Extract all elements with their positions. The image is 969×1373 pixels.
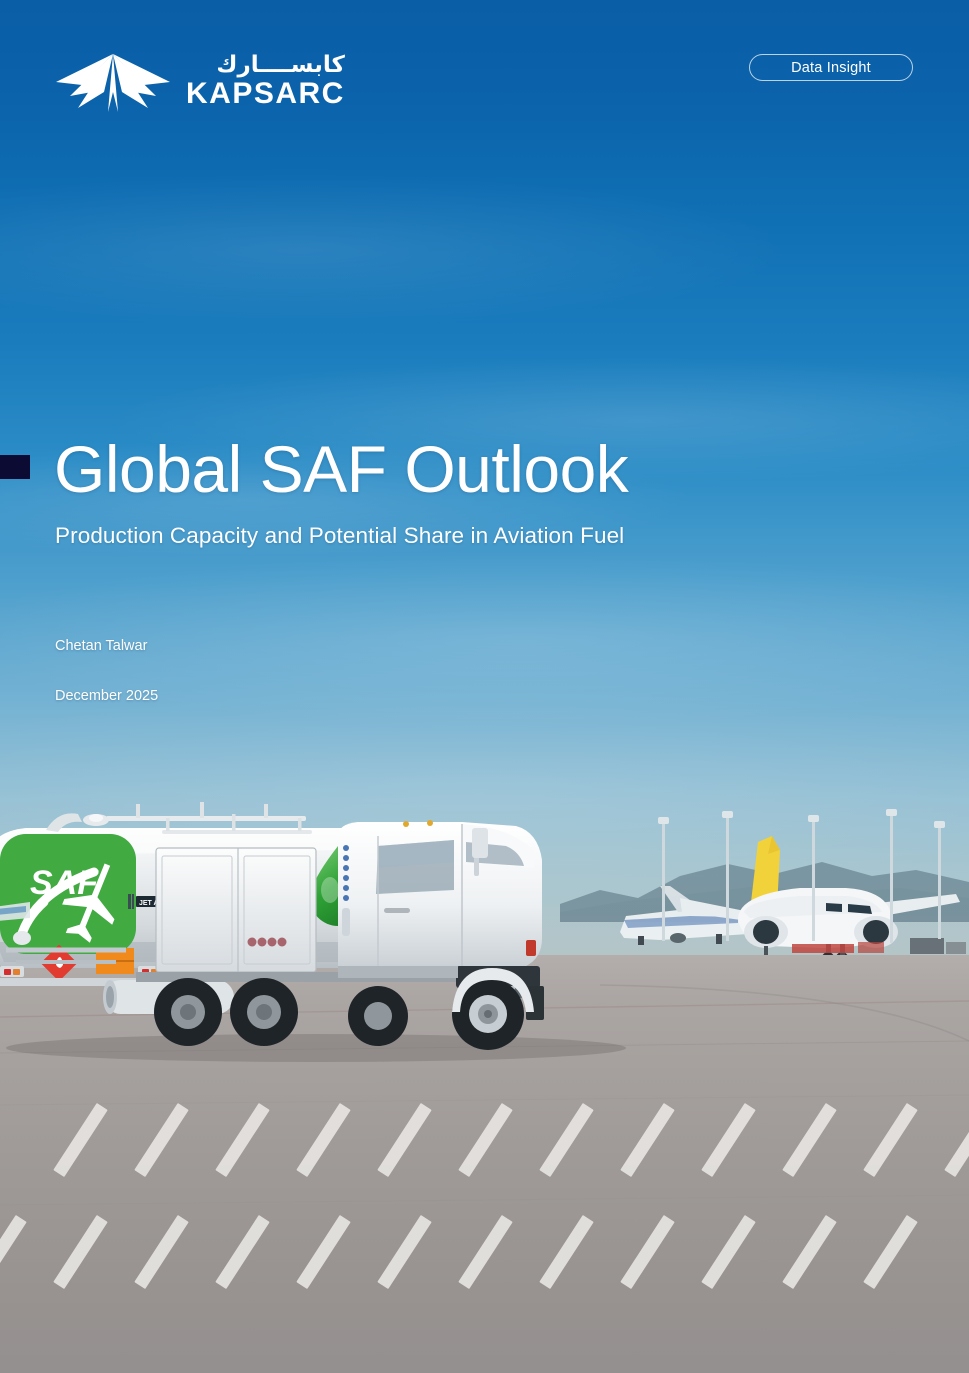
saf-tanker-truck: SAF S ustainable A viation F uel JET A-1 (0, 790, 666, 1070)
light-pole (812, 821, 815, 941)
data-insight-badge[interactable]: Data Insight (749, 54, 913, 81)
light-pole (726, 817, 729, 941)
page-subtitle: Production Capacity and Potential Share … (55, 522, 624, 550)
kapsarc-arabic-wordmark: كابســــارك (186, 54, 345, 77)
kapsarc-wordmark: كابســــارك KAPSARC (186, 52, 345, 110)
page-title: Global SAF Outlook (54, 431, 628, 507)
publication-date: December 2025 (55, 687, 158, 706)
title-accent-block (0, 455, 30, 479)
kapsarc-logo[interactable]: كابســــارك KAPSARC (52, 52, 344, 120)
author-name: Chetan Talwar (55, 637, 147, 656)
apron-light-poles (620, 815, 969, 955)
kapsarc-fan-logo-icon (52, 52, 174, 114)
kapsarc-latin-wordmark: KAPSARC (186, 78, 345, 110)
light-pole (890, 815, 893, 943)
report-cover: SAF S ustainable A viation F uel JET A-1 (0, 0, 969, 1373)
data-insight-badge-label: Data Insight (791, 60, 871, 76)
light-pole (938, 827, 941, 939)
cover-header: كابســــارك KAPSARC Data Insight (0, 0, 969, 150)
